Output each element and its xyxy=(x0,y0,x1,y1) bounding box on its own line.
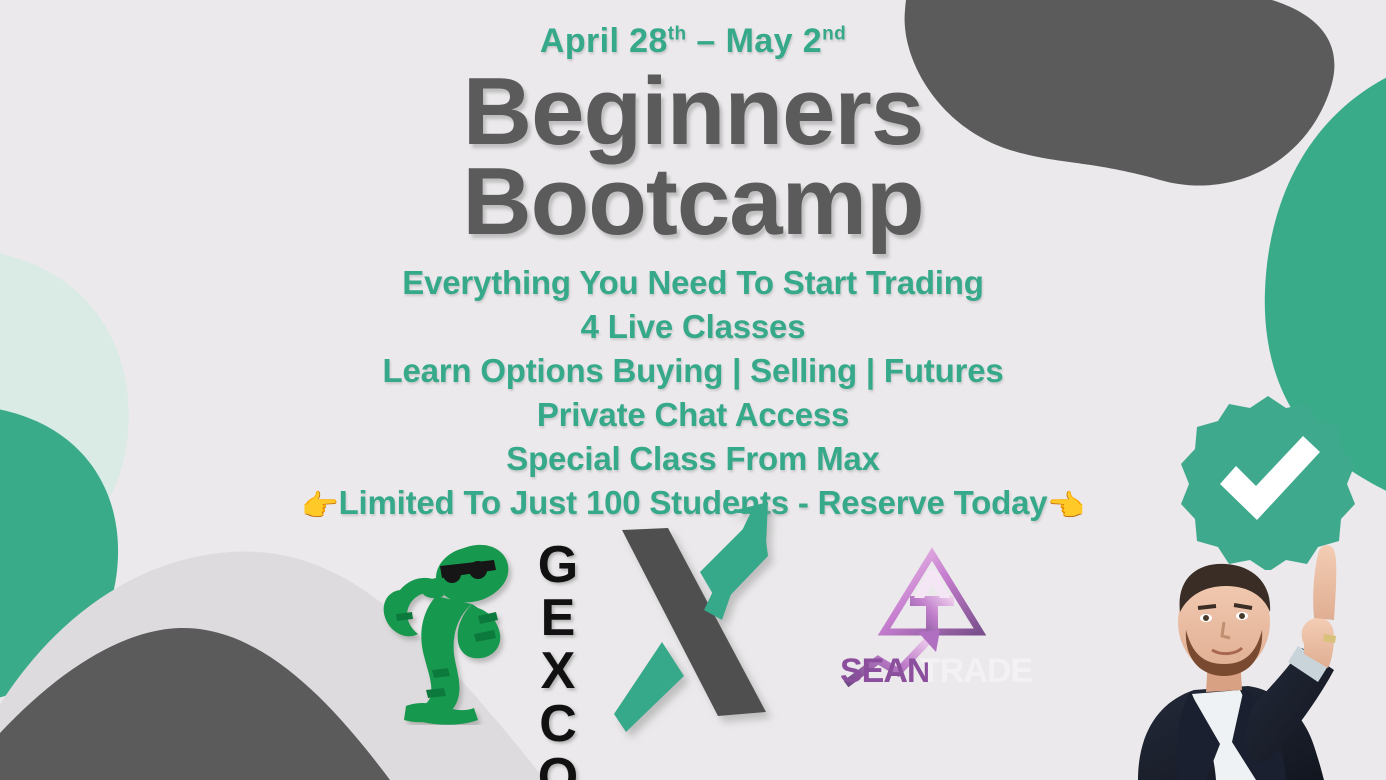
benefit-text: Special Class From Max xyxy=(506,440,879,477)
promo-canvas: April 28th – May 2nd Beginners Bootcamp … xyxy=(0,0,1386,780)
benefit-text: Learn Options Buying | Selling | Futures xyxy=(382,352,1003,389)
benefit-text: 4 Live Classes xyxy=(581,308,806,345)
benefit-item: Everything You Need To Start Trading xyxy=(0,261,1386,305)
title-line-2: Bootcamp xyxy=(0,157,1386,247)
pointing-left-hand-icon: 👈 xyxy=(1047,490,1085,523)
benefit-text: Limited To Just 100 Students - Reserve T… xyxy=(339,484,1048,521)
presenter-photo xyxy=(1128,538,1386,780)
pointing-right-hand-icon: 👉 xyxy=(301,490,339,523)
date-prefix: April 28 xyxy=(540,22,668,60)
event-date-line: April 28th – May 2nd xyxy=(0,22,1386,61)
benefit-text: Everything You Need To Start Trading xyxy=(402,264,983,301)
presenter-pointing-up xyxy=(1128,538,1386,780)
benefit-text: Private Chat Access xyxy=(537,396,849,433)
date-superscript-first: th xyxy=(668,24,687,45)
date-middle: – May 2 xyxy=(687,22,823,60)
benefit-item: Learn Options Buying | Selling | Futures xyxy=(0,349,1386,393)
page-title: Beginners Bootcamp xyxy=(0,67,1386,247)
benefit-item: 4 Live Classes xyxy=(0,305,1386,349)
date-superscript-second: nd xyxy=(822,24,846,45)
